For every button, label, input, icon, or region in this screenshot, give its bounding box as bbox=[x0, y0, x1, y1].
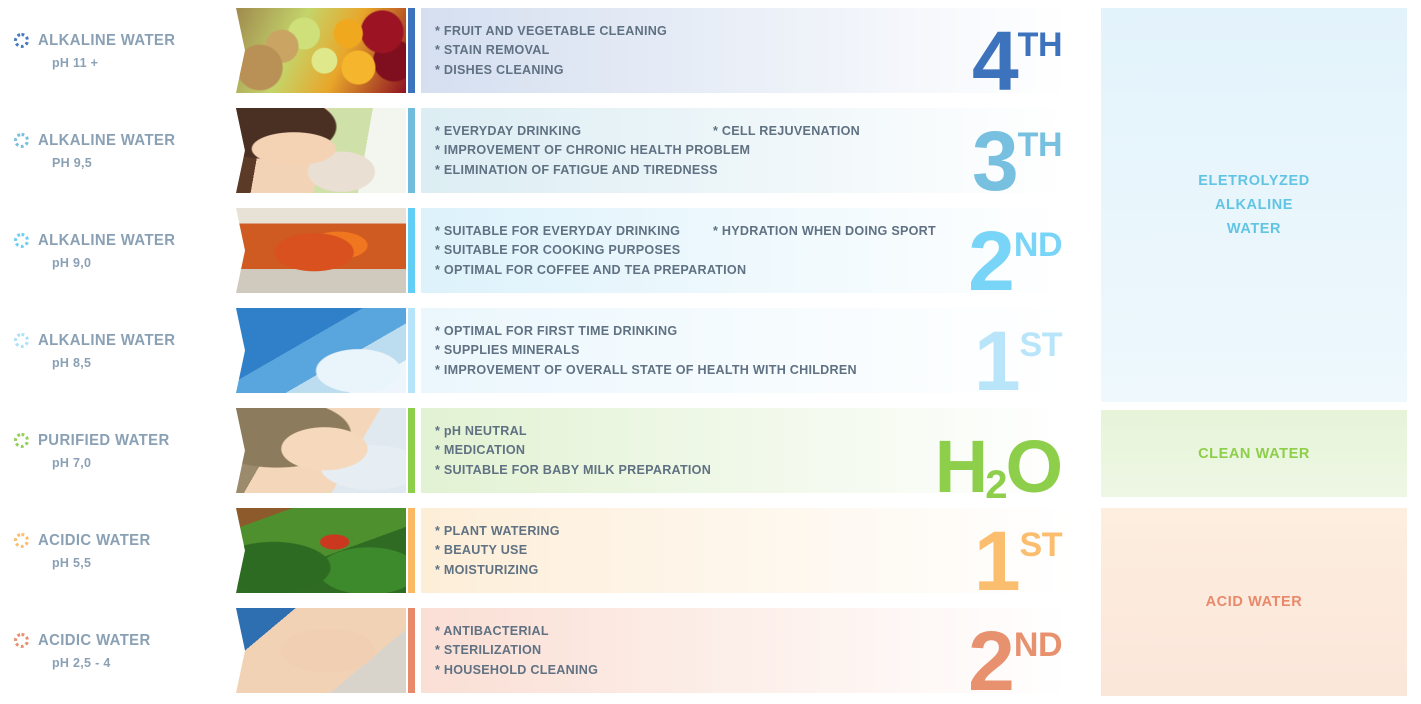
rank-suffix: ST bbox=[1020, 528, 1062, 562]
thumbnail-artwork bbox=[236, 308, 406, 393]
garden-plants-watering-photo bbox=[236, 508, 406, 593]
ph-label-row-4: ALKALINE WATERpH 8,5 bbox=[14, 308, 232, 393]
ph-scale-infographic: ALKALINE WATERpH 11 +ALKALINE WATERPH 9,… bbox=[0, 0, 1421, 704]
thumbnail-artwork bbox=[236, 208, 406, 293]
water-type-name: ALKALINE WATER bbox=[38, 132, 175, 150]
rank-suffix: ND bbox=[1014, 228, 1062, 262]
girl-drinking-water-photo bbox=[236, 408, 406, 493]
row-accent-bar bbox=[408, 608, 415, 693]
ph-label-heading: ACIDIC WATER bbox=[14, 532, 232, 550]
rank-number: 1 bbox=[974, 525, 1019, 599]
bullet-text: * OPTIMAL FOR COFFEE AND TEA PREPARATION bbox=[435, 262, 746, 276]
rank-suffix: O bbox=[1005, 434, 1062, 499]
thumbnail-artwork bbox=[236, 608, 406, 693]
category-label-line1: CLEAN WATER bbox=[1198, 442, 1310, 466]
bullet-text: * OPTIMAL FOR FIRST TIME DRINKING bbox=[435, 323, 677, 337]
rank-subscript: 2 bbox=[985, 465, 1007, 505]
ph-label-heading: PURIFIED WATER bbox=[14, 432, 232, 450]
category-label-line2: ALKALINE bbox=[1198, 193, 1310, 217]
category-label-line1: ELETROLYZED bbox=[1198, 169, 1310, 193]
bullet-text: * pH NEUTRAL bbox=[435, 423, 527, 437]
category-label-line1: ACID WATER bbox=[1206, 590, 1303, 614]
ph-label-row-5: PURIFIED WATERpH 7,0 bbox=[14, 408, 232, 493]
ph-row-7: * ANTIBACTERIAL* STERILIZATION* HOUSEHOL… bbox=[236, 608, 1068, 693]
dotted-ring-icon bbox=[14, 233, 29, 248]
ph-label-heading: ALKALINE WATER bbox=[14, 332, 232, 350]
rank-badge: 2ND bbox=[968, 225, 1062, 299]
bullet-secondary: * CELL REJUVENATION bbox=[713, 121, 860, 141]
rank-suffix: ND bbox=[1014, 628, 1062, 662]
bullet-text: * MEDICATION bbox=[435, 443, 525, 457]
ph-label-heading: ALKALINE WATER bbox=[14, 132, 232, 150]
row-description-panel: * OPTIMAL FOR FIRST TIME DRINKING* SUPPL… bbox=[421, 308, 1068, 393]
ph-row-1: * FRUIT AND VEGETABLE CLEANING* STAIN RE… bbox=[236, 8, 1068, 93]
bullet-secondary: * HYDRATION WHEN DOING SPORT bbox=[713, 221, 936, 241]
row-description-panel: * ANTIBACTERIAL* STERILIZATION* HOUSEHOL… bbox=[421, 608, 1068, 693]
row-description-panel: * pH NEUTRAL* MEDICATION* SUITABLE FOR B… bbox=[421, 408, 1068, 493]
thumbnail-artwork bbox=[236, 108, 406, 193]
ph-label-row-7: ACIDIC WATERpH 2,5 - 4 bbox=[14, 608, 232, 693]
bullet-text: * IMPROVEMENT OF OVERALL STATE OF HEALTH… bbox=[435, 362, 857, 376]
pouring-water-into-glass-photo bbox=[236, 308, 406, 393]
row-accent-bar bbox=[408, 508, 415, 593]
bullet-text: * ANTIBACTERIAL bbox=[435, 623, 549, 637]
ph-label-heading: ALKALINE WATER bbox=[14, 232, 232, 250]
rank-number: 2 bbox=[968, 625, 1013, 699]
category-panel-2: CLEAN WATER bbox=[1101, 410, 1407, 497]
row-description-panel: * SUITABLE FOR EVERYDAY DRINKING* HYDRAT… bbox=[421, 208, 1068, 293]
bullet-text: * BEAUTY USE bbox=[435, 543, 527, 557]
rank-number: 3 bbox=[972, 125, 1017, 199]
fruit-and-vegetables-photo bbox=[236, 8, 406, 93]
water-type-name: ACIDIC WATER bbox=[38, 532, 151, 550]
ph-value: pH 8,5 bbox=[52, 356, 232, 370]
ph-value: pH 2,5 - 4 bbox=[52, 656, 232, 670]
ph-label-heading: ACIDIC WATER bbox=[14, 632, 232, 650]
ph-label-column: ALKALINE WATERpH 11 +ALKALINE WATERPH 9,… bbox=[0, 0, 232, 704]
bandaged-knee-photo bbox=[236, 608, 406, 693]
bullet-text: * STERILIZATION bbox=[435, 643, 541, 657]
row-accent-bar bbox=[408, 8, 415, 93]
rank-badge: 4TH bbox=[972, 25, 1062, 99]
ph-label-row-6: ACIDIC WATERpH 5,5 bbox=[14, 508, 232, 593]
ph-row-3: * SUITABLE FOR EVERYDAY DRINKING* HYDRAT… bbox=[236, 208, 1068, 293]
bullet-text: * PLANT WATERING bbox=[435, 523, 560, 537]
row-description-panel: * FRUIT AND VEGETABLE CLEANING* STAIN RE… bbox=[421, 8, 1068, 93]
bullet-text: * DISHES CLEANING bbox=[435, 62, 564, 76]
ph-value: pH 7,0 bbox=[52, 456, 232, 470]
row-accent-bar bbox=[408, 308, 415, 393]
row-description-panel: * PLANT WATERING* BEAUTY USE* MOISTURIZI… bbox=[421, 508, 1068, 593]
bullet-text: * ELIMINATION OF FATIGUE AND TIREDNESS bbox=[435, 162, 718, 176]
ph-row-5: * pH NEUTRAL* MEDICATION* SUITABLE FOR B… bbox=[236, 408, 1068, 493]
water-type-name: ALKALINE WATER bbox=[38, 332, 175, 350]
ph-row-2: * EVERYDAY DRINKING* CELL REJUVENATION* … bbox=[236, 108, 1068, 193]
ph-value: PH 9,5 bbox=[52, 156, 232, 170]
bullet-text: * SUPPLIES MINERALS bbox=[435, 343, 580, 357]
water-type-name: ALKALINE WATER bbox=[38, 32, 175, 50]
rank-number: 4 bbox=[972, 25, 1017, 99]
bullet-text: * STAIN REMOVAL bbox=[435, 43, 550, 57]
rank-suffix: TH bbox=[1018, 128, 1062, 162]
dotted-ring-icon bbox=[14, 333, 29, 348]
dotted-ring-icon bbox=[14, 533, 29, 548]
bullet-text: * IMPROVEMENT OF CHRONIC HEALTH PROBLEM bbox=[435, 143, 750, 157]
rank-badge: 1ST bbox=[974, 325, 1062, 399]
soup-pot-cooking-photo bbox=[236, 208, 406, 293]
row-accent-bar bbox=[408, 108, 415, 193]
dotted-ring-icon bbox=[14, 133, 29, 148]
ph-label-row-1: ALKALINE WATERpH 11 + bbox=[14, 8, 232, 93]
bullet-text: * HOUSEHOLD CLEANING bbox=[435, 662, 598, 676]
bullet-text: * EVERYDAY DRINKING bbox=[435, 123, 581, 137]
ph-row-6: * PLANT WATERING* BEAUTY USE* MOISTURIZI… bbox=[236, 508, 1068, 593]
thumbnail-artwork bbox=[236, 408, 406, 493]
category-label-line3: WATER bbox=[1198, 217, 1310, 241]
category-panel-1: ELETROLYZEDALKALINEWATER bbox=[1101, 8, 1407, 402]
ph-label-row-3: ALKALINE WATERpH 9,0 bbox=[14, 208, 232, 293]
rank-suffix: ST bbox=[1020, 328, 1062, 362]
water-type-name: ALKALINE WATER bbox=[38, 232, 175, 250]
thumbnail-artwork bbox=[236, 508, 406, 593]
dotted-ring-icon bbox=[14, 33, 29, 48]
category-label: ACID WATER bbox=[1206, 590, 1303, 614]
rank-badge: H2O bbox=[935, 434, 1062, 499]
bullet-text: * SUITABLE FOR EVERYDAY DRINKING bbox=[435, 223, 680, 237]
bullet-text: * MOISTURIZING bbox=[435, 562, 539, 576]
water-type-name: ACIDIC WATER bbox=[38, 632, 151, 650]
dotted-ring-icon bbox=[14, 433, 29, 448]
bullet-text: * SUITABLE FOR BABY MILK PREPARATION bbox=[435, 462, 711, 476]
ph-value: pH 11 + bbox=[52, 56, 232, 70]
category-panel-3: ACID WATER bbox=[1101, 508, 1407, 696]
ph-value: pH 5,5 bbox=[52, 556, 232, 570]
row-description-panel: * EVERYDAY DRINKING* CELL REJUVENATION* … bbox=[421, 108, 1068, 193]
ph-label-row-2: ALKALINE WATERPH 9,5 bbox=[14, 108, 232, 193]
thumbnail-artwork bbox=[236, 8, 406, 93]
rank-badge: 1ST bbox=[974, 525, 1062, 599]
rank-number: 2 bbox=[968, 225, 1013, 299]
category-label: CLEAN WATER bbox=[1198, 442, 1310, 466]
row-accent-bar bbox=[408, 408, 415, 493]
rank-badge: 2ND bbox=[968, 625, 1062, 699]
rank-badge: 3TH bbox=[972, 125, 1062, 199]
row-accent-bar bbox=[408, 208, 415, 293]
rank-number: 1 bbox=[974, 325, 1019, 399]
ph-value: pH 9,0 bbox=[52, 256, 232, 270]
category-label: ELETROLYZEDALKALINEWATER bbox=[1198, 169, 1310, 241]
dotted-ring-icon bbox=[14, 633, 29, 648]
rank-number: H bbox=[935, 434, 987, 499]
bullet-text: * FRUIT AND VEGETABLE CLEANING bbox=[435, 23, 667, 37]
smiling-woman-drinking-photo bbox=[236, 108, 406, 193]
water-type-name: PURIFIED WATER bbox=[38, 432, 170, 450]
rank-suffix: TH bbox=[1018, 28, 1062, 62]
ph-label-heading: ALKALINE WATER bbox=[14, 32, 232, 50]
ph-row-4: * OPTIMAL FOR FIRST TIME DRINKING* SUPPL… bbox=[236, 308, 1068, 393]
bullet-text: * SUITABLE FOR COOKING PURPOSES bbox=[435, 243, 680, 257]
